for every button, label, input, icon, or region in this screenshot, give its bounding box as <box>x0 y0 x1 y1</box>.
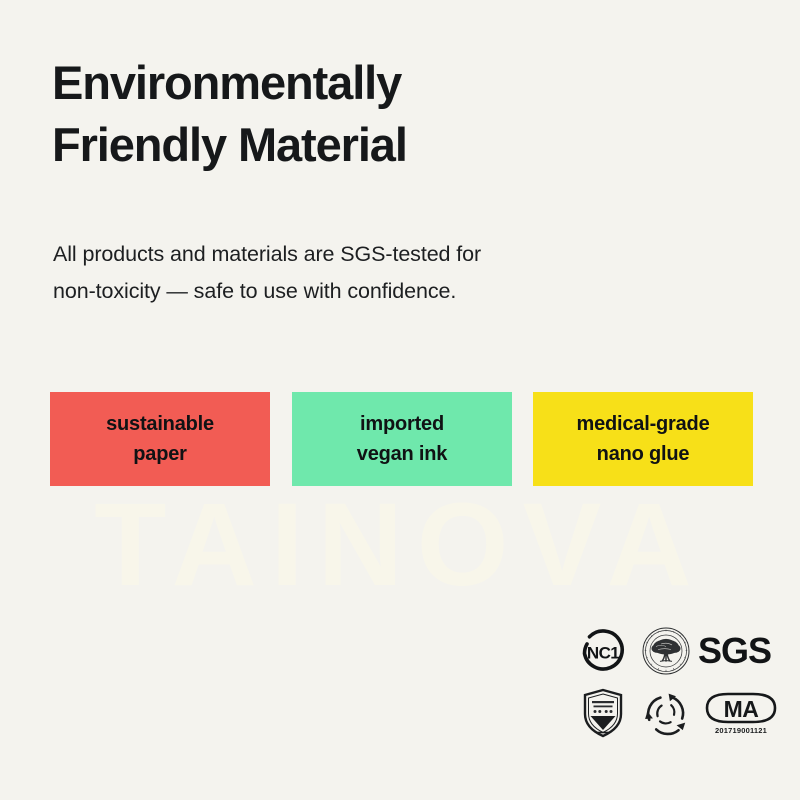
shield-certification-icon <box>572 684 634 742</box>
poster-canvas: TAINOVA Environmentally Friendly Materia… <box>0 0 800 800</box>
brand-watermark: TAINOVA <box>0 486 800 604</box>
chip-label-line-2: paper <box>133 439 186 469</box>
page-title-line-1: Environmentally <box>52 52 752 114</box>
page-title-line-2: Friendly Material <box>52 114 752 176</box>
tree-seal-certification-icon <box>634 622 698 680</box>
certification-badge-row-1: NC1 <box>572 622 784 680</box>
certification-badge-row-2: MA 201719001121 <box>572 684 784 742</box>
chip-sustainable-paper: sustainable paper <box>50 392 270 486</box>
chip-label-line-1: sustainable <box>106 409 214 439</box>
chip-label-line-1: medical-grade <box>576 409 709 439</box>
page-description-line-2: non-toxicity — safe to use with confiden… <box>53 273 713 310</box>
cma-certification-icon: MA 201719001121 <box>698 684 784 742</box>
page-description-line-1: All products and materials are SGS-teste… <box>53 236 713 273</box>
svg-text:MA: MA <box>724 696 759 722</box>
chip-medical-grade-nano-glue: medical-grade nano glue <box>533 392 753 486</box>
chip-imported-vegan-ink: imported vegan ink <box>292 392 512 486</box>
recycling-certification-icon <box>634 684 698 742</box>
sgs-wordmark: SGS <box>698 633 771 669</box>
nc1-certification-icon: NC1 <box>572 622 634 680</box>
cma-licence-number: 201719001121 <box>715 726 767 735</box>
chip-label-line-1: imported <box>360 409 444 439</box>
chip-label-line-2: nano glue <box>597 439 690 469</box>
material-chip-group: sustainable paper imported vegan ink med… <box>50 392 756 486</box>
svg-text:NC1: NC1 <box>587 644 619 663</box>
certification-badge-grid: NC1 <box>572 622 784 746</box>
chip-label-line-2: vegan ink <box>357 439 447 469</box>
sgs-certification-icon: SGS <box>698 622 784 680</box>
page-title: Environmentally Friendly Material <box>52 52 752 176</box>
page-description: All products and materials are SGS-teste… <box>53 236 713 310</box>
